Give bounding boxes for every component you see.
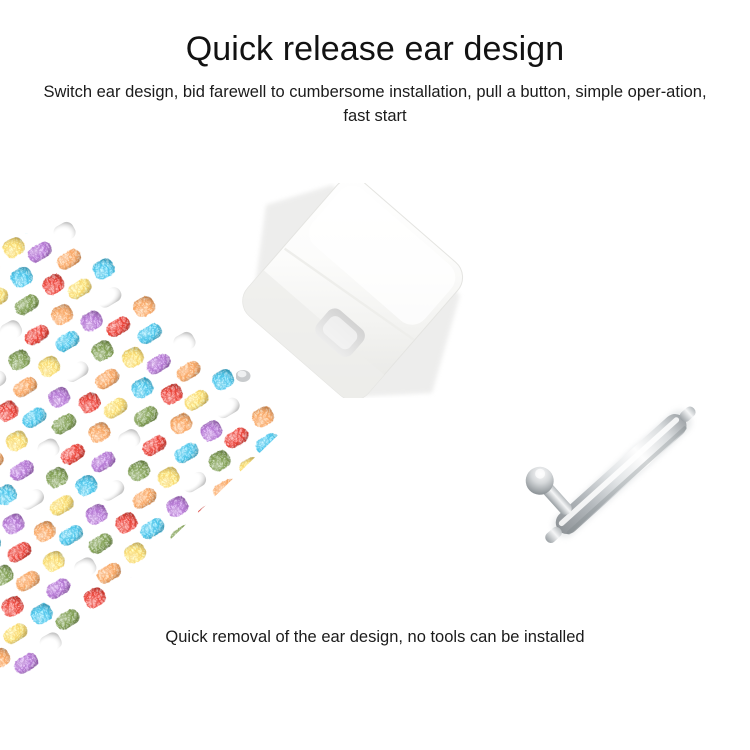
band-knot-shade: [182, 387, 211, 413]
band-knot: [0, 482, 19, 508]
band-knot-shade: [289, 550, 318, 576]
band-knot-shade: [0, 176, 6, 200]
band-knot-shade: [293, 467, 322, 493]
band-knot: [412, 579, 440, 605]
band-knot-shade: [0, 482, 19, 508]
band-knot: [237, 455, 264, 481]
page-title: Quick release ear design: [0, 29, 750, 69]
clasp-crease: [285, 237, 414, 352]
band-knot: [213, 395, 242, 421]
band-knot: [89, 449, 118, 475]
band-knot-shade: [86, 531, 115, 557]
band-knot-shade: [49, 302, 76, 328]
band-knot-shade: [178, 552, 207, 578]
band-knot: [180, 469, 209, 495]
band-knot-shade: [250, 514, 279, 540]
band-knot: [78, 308, 105, 334]
band-knot-shade: [73, 473, 100, 499]
band-knot-shade: [35, 436, 62, 462]
band-knot-shade: [412, 579, 440, 605]
band-knot-shade: [0, 594, 26, 620]
band-knot-shade: [93, 366, 122, 392]
band-knot-shade: [371, 541, 400, 567]
band-knot: [155, 464, 182, 490]
band-knot-shade: [110, 591, 137, 617]
band-knot-shade: [0, 368, 9, 394]
band-knot: [119, 345, 146, 371]
band-knot: [76, 390, 103, 416]
band-knot: [0, 235, 27, 261]
band-knot-shade: [0, 449, 6, 475]
band-knot-shade: [213, 395, 242, 421]
band-knot-shade: [0, 235, 27, 261]
band-knot-shade: [113, 510, 140, 536]
band-knot: [51, 219, 78, 245]
band-knot-shade: [296, 663, 325, 676]
band-knot: [276, 492, 303, 518]
spring-bar-pin: [515, 378, 730, 583]
band-knot-shade: [127, 567, 156, 593]
band-knot: [108, 675, 135, 676]
quick-release-clasp: [236, 183, 468, 398]
band-knot: [378, 654, 407, 676]
band-knot-shade: [20, 405, 49, 431]
band-knot: [3, 428, 30, 454]
band-knot: [73, 473, 100, 499]
band-knot-shade: [11, 182, 38, 208]
band-knot: [81, 585, 108, 611]
band-knot: [189, 665, 216, 676]
pin-lever-knob: [520, 461, 560, 501]
band-knot-shade: [89, 338, 116, 364]
band-knot: [40, 548, 67, 574]
band-knot: [195, 501, 222, 527]
band-knot: [57, 522, 86, 548]
band-knot: [0, 594, 26, 620]
band-knot: [110, 591, 137, 617]
band-knot: [93, 366, 122, 392]
band-knot: [28, 601, 55, 627]
band-knot-shade: [12, 292, 41, 318]
band-knot-shade: [77, 666, 104, 676]
band-knot-shade: [47, 493, 76, 519]
band-knot-shade: [31, 518, 58, 544]
band-knot-shade: [104, 314, 133, 340]
band-knot-shade: [168, 522, 197, 548]
band-knot: [248, 595, 277, 621]
band-knot: [407, 550, 434, 576]
clasp-notch: [312, 305, 369, 361]
band-knot: [325, 559, 352, 585]
band-knot-shade: [220, 506, 249, 532]
band-knot-shade: [316, 529, 343, 555]
band-knot: [89, 338, 116, 364]
band-knot: [174, 358, 203, 384]
band-knot-shade: [134, 597, 163, 623]
pin-tip-bottom: [543, 525, 564, 545]
band-knot-shade: [206, 448, 233, 474]
band-knot-shade: [0, 645, 13, 671]
band-knot: [408, 661, 437, 676]
band-knot-shade: [116, 427, 143, 453]
band-knot-shade: [57, 522, 86, 548]
band-knot: [286, 521, 313, 547]
band-knot: [332, 506, 361, 532]
band-knot-shade: [237, 455, 264, 481]
band-knot: [41, 658, 70, 676]
band-knot: [95, 285, 124, 311]
band-knot: [135, 321, 164, 347]
band-knot: [260, 543, 289, 569]
band-knot: [272, 657, 299, 676]
band-knot-shade: [12, 651, 41, 676]
band-knot-shade: [235, 537, 262, 563]
band-knot: [274, 574, 301, 600]
band-knot: [207, 559, 236, 585]
band-knot-shade: [341, 534, 370, 560]
band-knot-shade: [101, 395, 130, 421]
band-knot: [86, 420, 113, 446]
band-knot-shade: [288, 440, 315, 466]
band-knot-shade: [180, 469, 209, 495]
band-knot-shade: [243, 567, 270, 593]
band-knot-shade: [0, 398, 21, 424]
band-knot: [241, 649, 268, 675]
band-knot-shade: [108, 675, 135, 676]
band-knot-shade: [155, 464, 182, 490]
band-knot-shade: [253, 431, 282, 457]
band-knot: [220, 506, 249, 532]
band-knot: [153, 546, 180, 572]
band-knot-shade: [207, 559, 236, 585]
band-knot-shade: [198, 418, 225, 444]
band-knot-shade: [276, 492, 303, 518]
band-knot: [211, 476, 240, 502]
band-knot: [15, 210, 44, 236]
band-knot-shade: [76, 390, 103, 416]
band-knot-shade: [407, 550, 434, 576]
pin-lever-knob-glint: [533, 467, 547, 481]
band-knot: [12, 292, 41, 318]
clasp-body: [236, 183, 468, 398]
band-knot-shade: [78, 308, 105, 334]
band-knot-shade: [153, 546, 180, 572]
band-knot: [86, 531, 115, 557]
band-knot-shade: [215, 670, 244, 676]
band-knot: [104, 314, 133, 340]
band-knot-shade: [301, 498, 330, 524]
band-knot: [138, 516, 167, 542]
band-knot: [0, 398, 21, 424]
clasp-shadow: [252, 185, 460, 397]
band-knot-shade: [326, 670, 355, 676]
band-knot: [77, 666, 104, 676]
band-knot: [127, 567, 156, 593]
pin-shadow: [548, 405, 696, 542]
clasp-highlight: [302, 183, 462, 332]
band-knot: [40, 271, 67, 297]
band-knot: [178, 552, 207, 578]
band-knot-shade: [124, 649, 153, 675]
band-knot-shade: [43, 465, 70, 491]
band-knot-shade: [22, 322, 51, 348]
band-knot: [140, 433, 169, 459]
band-knot-shade: [366, 596, 393, 622]
band-knot-shade: [122, 540, 149, 566]
band-knot: [124, 649, 153, 675]
band-knot-shade: [89, 449, 118, 475]
band-knot-shade: [369, 514, 396, 540]
band-knot-shade: [0, 285, 11, 311]
band-knot-shade: [195, 501, 222, 527]
band-knot: [352, 648, 379, 674]
band-knot-shade: [129, 375, 156, 401]
band-knot: [43, 465, 70, 491]
band-knot-shade: [11, 374, 40, 400]
band-knot-shade: [144, 351, 173, 377]
band-knot-shade: [58, 441, 87, 467]
band-knot-shade: [125, 458, 152, 484]
band-knot: [0, 368, 9, 394]
band-knot: [62, 359, 91, 385]
band-knot: [8, 264, 35, 290]
band-knot: [172, 440, 201, 466]
band-knot: [206, 448, 233, 474]
band-knot-shade: [408, 661, 437, 676]
band-knot-shade: [5, 539, 34, 565]
band-knot-shade: [189, 665, 216, 676]
band-knot: [0, 318, 25, 344]
band-knot: [0, 645, 13, 671]
band-knot-shade: [164, 494, 191, 520]
band-knot: [6, 347, 33, 373]
band-knot: [288, 440, 315, 466]
band-knot: [130, 485, 159, 511]
band-knot: [90, 256, 117, 282]
band-knot: [113, 510, 140, 536]
band-knot: [0, 532, 4, 558]
band-knot-shade: [158, 381, 185, 407]
pin-release-lever: [520, 461, 580, 523]
band-knot: [134, 597, 163, 623]
band-knot: [369, 514, 396, 540]
band-knot-shade: [81, 585, 108, 611]
band-knot: [162, 575, 189, 601]
band-knot: [22, 322, 51, 348]
band-knot: [95, 560, 124, 586]
band-knot: [17, 487, 46, 513]
band-knot: [49, 302, 76, 328]
footer-caption: Quick removal of the ear design, no tool…: [0, 625, 750, 649]
band-knot-shade: [95, 285, 124, 311]
band-knot-shade: [53, 329, 82, 355]
band-knot-shade: [62, 359, 91, 385]
band-knot: [250, 404, 277, 430]
band-knot: [83, 501, 110, 527]
band-knot: [131, 404, 160, 430]
band-knot: [262, 462, 291, 488]
page-subtitle: Switch ear design, bid farewell to cumbe…: [29, 80, 721, 128]
band-knot: [0, 257, 2, 283]
pin-tip-top: [678, 404, 698, 424]
band-knot-shade: [36, 353, 63, 379]
band-knot: [0, 204, 14, 230]
band-knot-shade: [15, 210, 44, 236]
band-knot: [44, 576, 73, 602]
band-knot: [5, 539, 34, 565]
band-knot-shade: [140, 433, 169, 459]
band-knot: [0, 285, 11, 311]
band-knot-shade: [8, 264, 35, 290]
band-knot-shade: [131, 294, 158, 320]
band-knot: [25, 239, 54, 265]
band-knot-shade: [286, 521, 313, 547]
band-knot-shade: [7, 458, 36, 484]
band-knot: [144, 351, 173, 377]
band-knot: [35, 436, 62, 462]
band-knot-shade: [172, 440, 201, 466]
band-knot: [301, 498, 330, 524]
band-knot-shade: [274, 574, 301, 600]
band-knot: [129, 375, 156, 401]
band-knot-shade: [262, 462, 291, 488]
band-knot-shade: [83, 501, 110, 527]
band-knot-shade: [272, 657, 299, 676]
band-knot: [326, 670, 355, 676]
band-knot: [243, 567, 270, 593]
band-knot: [0, 562, 16, 588]
band-knot: [371, 541, 400, 567]
band-knot: [222, 425, 251, 451]
band-knot-shade: [218, 588, 247, 614]
band-knot: [164, 494, 191, 520]
band-knot: [31, 518, 58, 544]
band-knot: [65, 276, 94, 302]
band-knot: [293, 467, 322, 493]
band-knot-shade: [65, 276, 94, 302]
band-knot: [116, 427, 143, 453]
band-knot: [0, 511, 27, 537]
band-knot-shade: [248, 595, 277, 621]
band-knot: [50, 411, 79, 437]
band-knot-shade: [246, 485, 273, 511]
pin-barrel: [551, 409, 691, 539]
band-knot: [13, 568, 42, 594]
pin-highlight: [558, 416, 681, 527]
band-knot: [198, 418, 225, 444]
band-knot-shade: [0, 318, 25, 344]
band-knot: [215, 670, 244, 676]
band-knot: [46, 384, 73, 410]
band-knot: [210, 367, 237, 393]
band-knot-shade: [325, 559, 352, 585]
band-knot-shade: [25, 239, 54, 265]
band-knot: [20, 405, 49, 431]
band-knot-shade: [90, 256, 117, 282]
band-knot-shade: [40, 548, 67, 574]
band-knot: [366, 596, 393, 622]
band-knot: [125, 458, 152, 484]
braided-watch-band: [0, 176, 440, 676]
band-knot: [171, 329, 198, 355]
band-knot: [193, 583, 220, 609]
product-marketing-image: Quick release ear design Switch ear desi…: [0, 0, 750, 750]
clasp-pin-tip: [236, 370, 251, 382]
band-knot-shade: [130, 485, 159, 511]
band-knot: [131, 294, 158, 320]
band-knot: [11, 374, 40, 400]
band-knot: [7, 458, 36, 484]
band-knot: [250, 514, 279, 540]
band-knot-shade: [95, 560, 124, 586]
band-knot-shade: [328, 587, 357, 613]
band-knot-shade: [241, 649, 268, 675]
band-knot-shade: [174, 358, 203, 384]
band-knot: [54, 247, 83, 273]
band-knot-shade: [44, 576, 73, 602]
band-knot: [11, 182, 38, 208]
band-knot: [0, 675, 22, 676]
band-knot: [253, 431, 282, 457]
band-knot: [36, 353, 63, 379]
band-knot-shade: [46, 384, 73, 410]
band-knot: [98, 478, 127, 504]
band-knot-shade: [210, 367, 237, 393]
band-knot-shade: [378, 654, 407, 676]
band-knot-shade: [329, 476, 356, 502]
band-knot-shade: [50, 411, 79, 437]
band-knot: [58, 441, 87, 467]
pin-lever-stem: [537, 478, 575, 518]
band-knot-shade: [0, 562, 16, 588]
band-knot-shade: [40, 271, 67, 297]
band-knot-shade: [98, 478, 127, 504]
band-knot-shade: [28, 601, 55, 627]
band-knot: [53, 329, 82, 355]
band-knot: [296, 663, 325, 676]
band-knot-shade: [260, 543, 289, 569]
band-knot-shade: [204, 530, 231, 556]
band-knot: [0, 176, 6, 200]
band-knot: [218, 588, 247, 614]
band-knot-shade: [299, 580, 328, 606]
band-knot: [246, 485, 273, 511]
band-knot-shade: [332, 506, 361, 532]
band-knot-shade: [171, 329, 198, 355]
band-knot: [329, 476, 356, 502]
band-knot: [204, 530, 231, 556]
band-knot: [299, 580, 328, 606]
band-knot-shade: [193, 583, 220, 609]
band-knot-shade: [3, 428, 30, 454]
band-knot: [380, 572, 409, 598]
band-knot: [72, 555, 99, 581]
band-knot: [168, 411, 195, 437]
band-knot-shade: [0, 204, 14, 230]
band-knot: [328, 587, 357, 613]
band-knot: [47, 493, 76, 519]
band-knot: [235, 537, 262, 563]
band-knot-shade: [222, 425, 251, 451]
band-knot-shade: [17, 487, 46, 513]
band-knot-shade: [135, 321, 164, 347]
band-knot-shade: [211, 476, 240, 502]
band-knot-shade: [352, 648, 379, 674]
band-knot: [158, 381, 185, 407]
band-knot: [0, 449, 6, 475]
band-knot-shade: [356, 566, 383, 592]
band-knot: [356, 566, 383, 592]
